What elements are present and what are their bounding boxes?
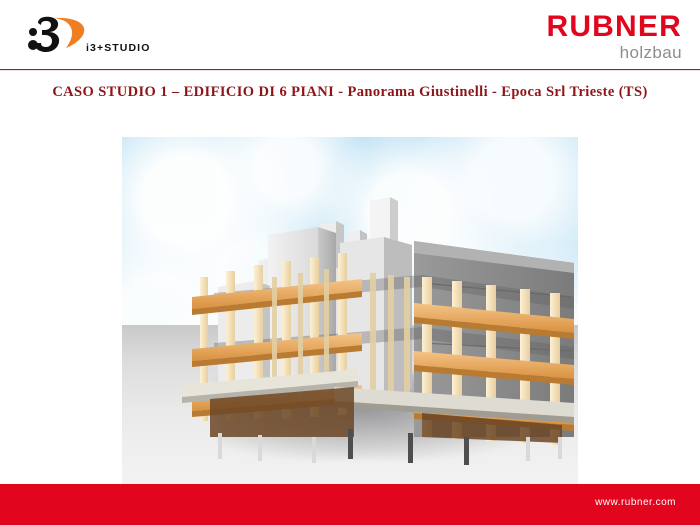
i3-studio-logo-mark: i3+STUDIO bbox=[24, 14, 154, 58]
header-divider-shadow bbox=[0, 70, 700, 71]
building-geometry bbox=[122, 137, 578, 484]
rubner-website-url[interactable]: www.rubner.com bbox=[595, 497, 676, 508]
slide-footer: www.rubner.com bbox=[0, 484, 700, 525]
slide-header: i3+STUDIO RUBNER holzbau bbox=[0, 0, 700, 69]
holzbau-wordmark: holzbau bbox=[510, 43, 682, 62]
page-title: CASO STUDIO 1 – EDIFICIO DI 6 PIANI - Pa… bbox=[0, 84, 700, 101]
building-model bbox=[122, 137, 578, 484]
slide-canvas: i3+STUDIO RUBNER holzbau CASO STUDIO 1 –… bbox=[0, 0, 700, 525]
rubner-holzbau-logo: RUBNER holzbau bbox=[510, 12, 682, 62]
rubner-wordmark: RUBNER bbox=[510, 12, 682, 42]
i3-studio-wordmark: i3+STUDIO bbox=[86, 42, 150, 54]
architectural-render-image bbox=[122, 137, 578, 484]
i3-studio-logo: i3+STUDIO bbox=[24, 14, 154, 58]
